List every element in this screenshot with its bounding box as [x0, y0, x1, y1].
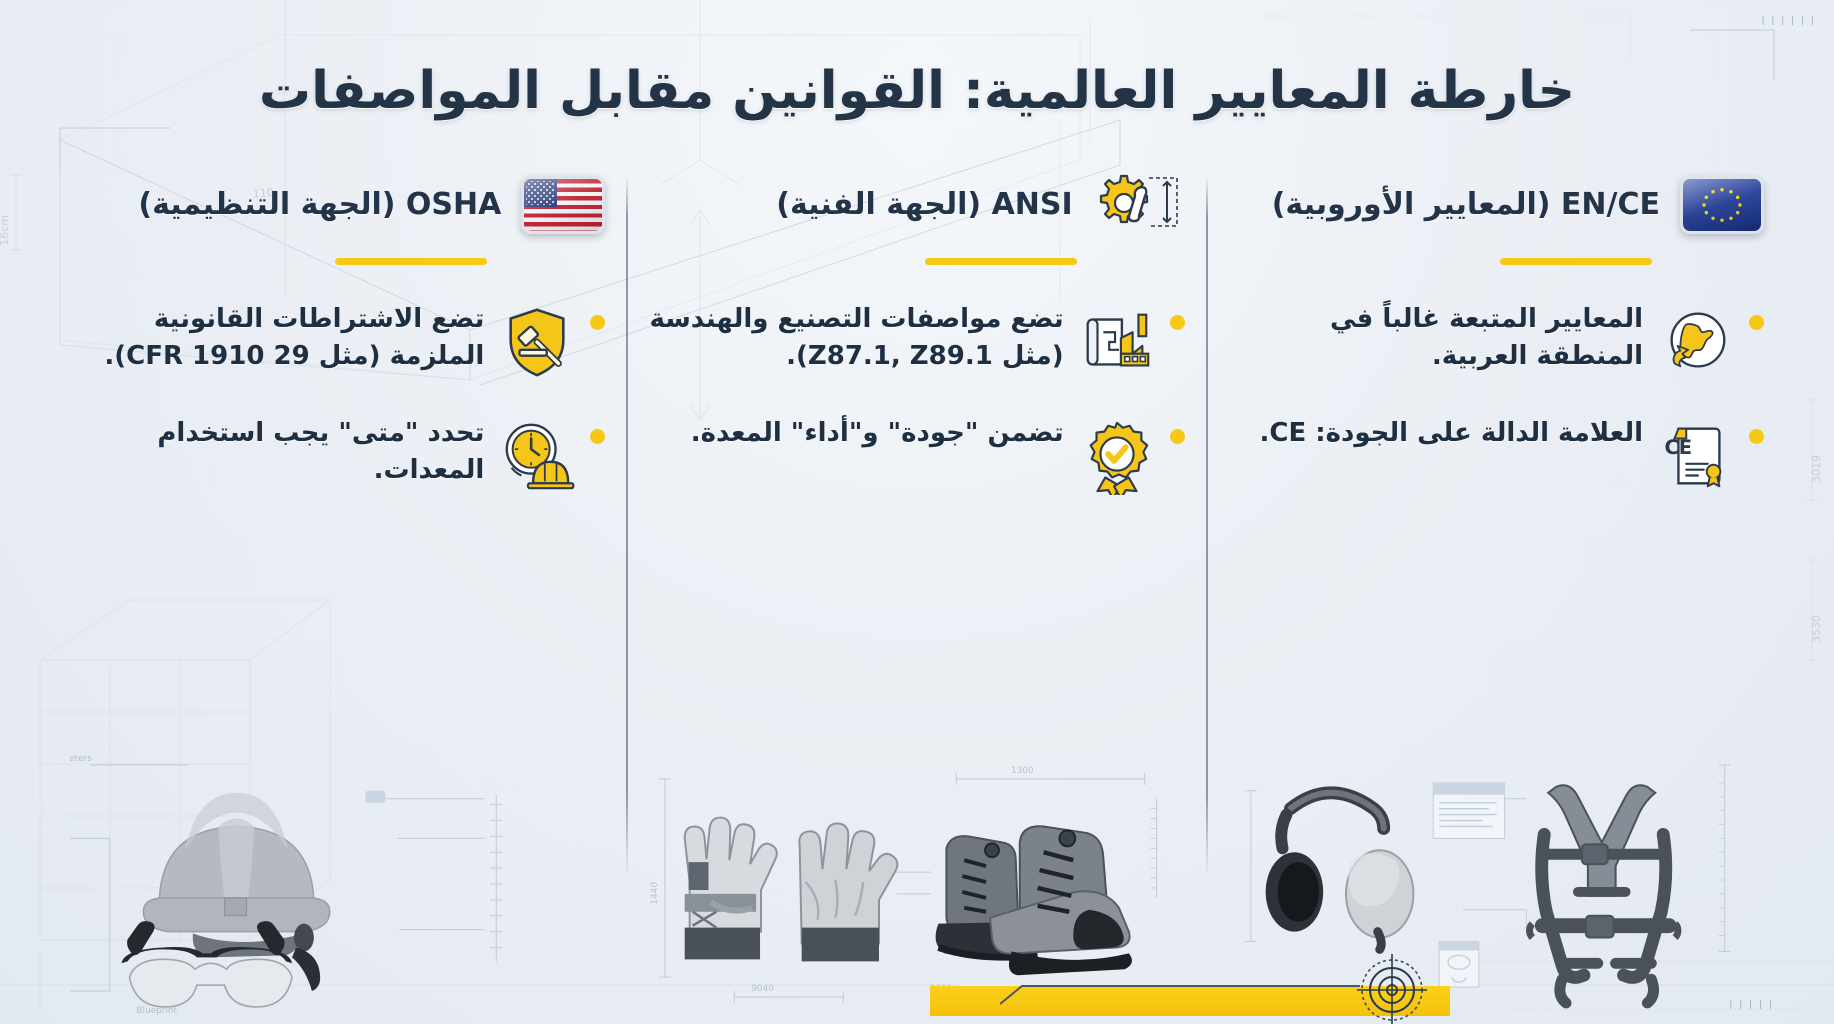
column-title-osha: OSHA (الجهة التنظيمية) — [138, 187, 501, 222]
column-ansi: ANSI (الجهة الفنية) — [627, 168, 1206, 1024]
bullets-ansi: تضع مواصفات التصنيع والهندسة (مثل Z87.1,… — [649, 301, 1184, 495]
page-title-wrap: خارطة المعايير العالمية: القوانين مقابل … — [0, 0, 1834, 122]
header-underline-osha — [335, 258, 487, 265]
page-title: خارطة المعايير العالمية: القوانين مقابل … — [0, 62, 1834, 122]
bullets-osha: تضع الاشتراطات القانونية الملزمة (مثل 29… — [70, 301, 605, 495]
column-en-ce: EN/CE (المعايير الأوروبية) المعايير المت… — [1207, 168, 1786, 1024]
column-osha: OSHA (الجهة التنظيمية) — [48, 168, 627, 1024]
clock-hardhat-icon — [498, 417, 576, 495]
blueprint-factory-icon — [1078, 303, 1156, 381]
bullet-item: تضمن "جودة" و"أداء" المعدة. — [649, 415, 1184, 495]
bullets-en-ce: المعايير المتبعة غالباً في المنطقة العرب… — [1229, 301, 1764, 495]
column-header-en-ce: EN/CE (المعايير الأوروبية) — [1229, 168, 1764, 242]
bullet-item: تضع مواصفات التصنيع والهندسة (مثل Z87.1,… — [649, 301, 1184, 381]
header-underline-ansi — [925, 258, 1077, 265]
bullet-dot-icon — [590, 315, 605, 330]
gear-wrench-icon — [1093, 170, 1185, 240]
bullet-dot-icon — [590, 429, 605, 444]
us-flag-icon — [521, 176, 605, 234]
shield-gavel-icon — [498, 303, 576, 381]
eu-flag-icon — [1680, 176, 1764, 234]
hard-hat-and-safety-glasses-photo: Millimeters Blueprint — [70, 742, 605, 1024]
bullet-text: تضمن "جودة" و"أداء" المعدة. — [649, 415, 1063, 452]
bullet-item: CE العلامة الدالة على الجودة: CE. — [1229, 415, 1764, 495]
bullet-text: العلامة الدالة على الجودة: CE. — [1229, 415, 1643, 452]
bullet-text: تحدد "متى" يجب استخدام المعدات. — [70, 415, 484, 489]
bullet-dot-icon — [1170, 429, 1185, 444]
bullet-item: تحدد "متى" يجب استخدام المعدات. — [70, 415, 605, 495]
svg-text:1300: 1300 — [1011, 766, 1034, 776]
bullet-text: المعايير المتبعة غالباً في المنطقة العرب… — [1229, 301, 1643, 375]
svg-text:CE: CE — [1664, 436, 1692, 459]
ear-muffs-and-safety-harness-photo — [1229, 742, 1764, 1024]
bullet-text: تضع مواصفات التصنيع والهندسة (مثل Z87.1,… — [649, 301, 1063, 375]
quality-rosette-icon — [1078, 417, 1156, 495]
svg-text:1440: 1440 — [650, 882, 660, 905]
column-header-ansi: ANSI (الجهة الفنية) — [649, 168, 1184, 242]
header-underline-en-ce — [1500, 258, 1652, 265]
bullet-dot-icon — [1749, 429, 1764, 444]
bullet-text: تضع الاشتراطات القانونية الملزمة (مثل 29… — [70, 301, 484, 375]
columns-container: EN/CE (المعايير الأوروبية) المعايير المت… — [0, 168, 1834, 1024]
globe-africa-icon — [1657, 303, 1735, 381]
infographic-canvas: خارطة المعايير العالمية: القوانين مقابل … — [0, 0, 1834, 1024]
column-title-ansi: ANSI (الجهة الفنية) — [776, 187, 1072, 222]
bullet-dot-icon — [1170, 315, 1185, 330]
svg-text:Millimeters: Millimeters — [70, 754, 92, 764]
column-title-en-ce: EN/CE (المعايير الأوروبية) — [1272, 187, 1660, 222]
ce-certificate-icon: CE — [1657, 417, 1735, 495]
svg-text:9040: 9040 — [752, 984, 775, 994]
column-header-osha: OSHA (الجهة التنظيمية) — [70, 168, 605, 242]
bullet-dot-icon — [1749, 315, 1764, 330]
work-gloves-and-safety-boots-photo: 1440 9040 1300 0015 — [649, 742, 1184, 1024]
bullet-item: تضع الاشتراطات القانونية الملزمة (مثل 29… — [70, 301, 605, 381]
crosshair-target-icon — [1355, 950, 1429, 1024]
bullet-item: المعايير المتبعة غالباً في المنطقة العرب… — [1229, 301, 1764, 381]
